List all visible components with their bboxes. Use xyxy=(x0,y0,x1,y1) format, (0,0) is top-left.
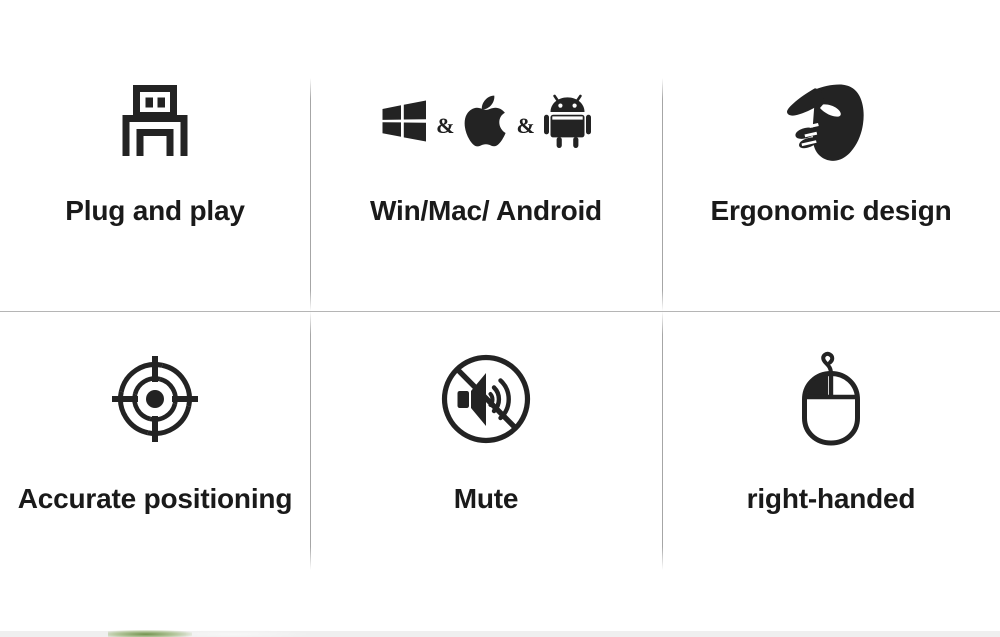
hand-grip-icon xyxy=(785,74,877,172)
android-logo-icon xyxy=(544,94,591,153)
crosshair-bar-bottom xyxy=(152,416,158,442)
bottom-edge-strip xyxy=(0,626,1000,637)
feature-label-mute: Mute xyxy=(454,484,519,515)
crosshair-target-icon xyxy=(110,350,200,448)
usb-contact-right xyxy=(158,98,166,108)
mute-speaker-icon xyxy=(440,350,532,448)
crosshair-bar-right xyxy=(172,396,198,402)
crosshair-bar-left xyxy=(112,396,138,402)
feature-cell-accurate-positioning: Accurate positioning xyxy=(0,311,310,626)
computer-mouse-icon xyxy=(795,350,867,448)
usb-contact-left xyxy=(146,98,154,108)
feature-cell-plug-and-play: Plug and play xyxy=(0,0,310,311)
feature-cell-ergonomic-design: Ergonomic design xyxy=(662,0,1000,311)
feature-cell-mute: Mute xyxy=(310,311,662,626)
ampersand-separator-2: & xyxy=(517,115,535,137)
bottom-edge-green-sliver xyxy=(108,630,192,637)
usb-connector-icon xyxy=(112,74,198,172)
horizontal-divider xyxy=(0,311,1000,312)
feature-cell-right-handed: right-handed xyxy=(662,311,1000,626)
vertical-divider-top-left xyxy=(310,78,311,311)
apple-logo-icon xyxy=(464,95,508,152)
mouse-cable xyxy=(823,354,832,374)
os-logos-group: & & xyxy=(381,74,591,172)
vertical-divider-top-right xyxy=(662,78,663,311)
bottom-edge-white-sliver xyxy=(186,630,306,637)
ampersand-separator-1: & xyxy=(436,115,454,137)
crosshair-bar-top xyxy=(152,356,158,382)
feature-label-ergonomic-design: Ergonomic design xyxy=(710,196,951,227)
feature-cell-os-compatibility: & & xyxy=(310,0,662,311)
vertical-divider-bottom-right xyxy=(662,311,663,570)
feature-label-plug-and-play: Plug and play xyxy=(65,196,244,227)
feature-label-os-compatibility: Win/Mac/ Android xyxy=(370,196,602,227)
feature-label-right-handed: right-handed xyxy=(747,484,916,515)
crosshair-center-dot xyxy=(146,390,164,408)
feature-label-accurate-positioning: Accurate positioning xyxy=(18,484,292,515)
windows-logo-icon xyxy=(381,100,427,147)
vertical-divider-bottom-left xyxy=(310,311,311,570)
feature-grid: Plug and play & xyxy=(0,0,1000,626)
